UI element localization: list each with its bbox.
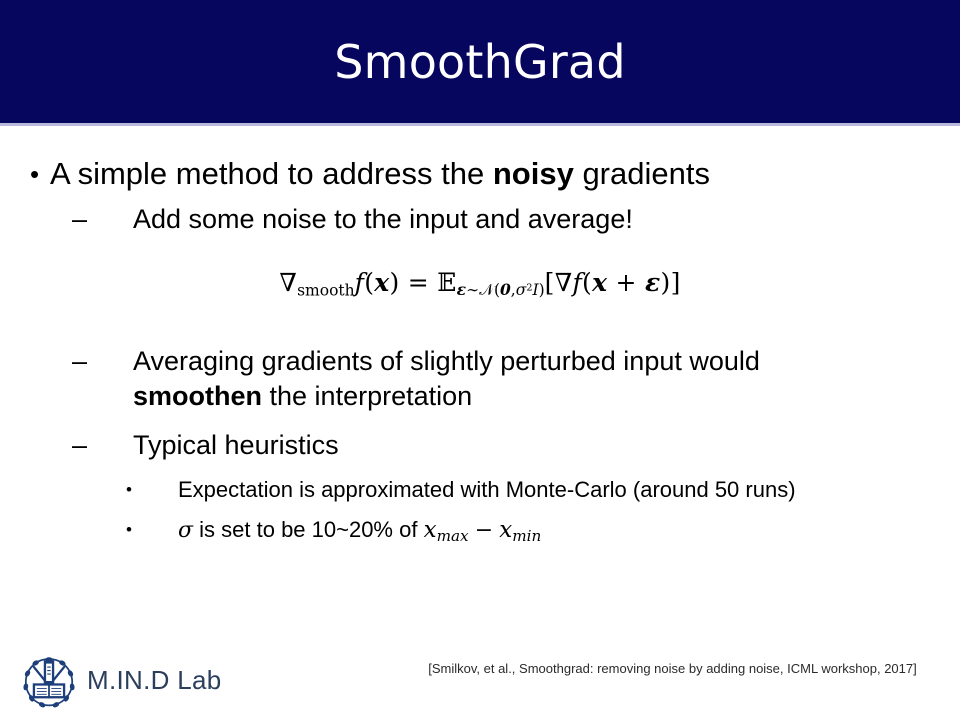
formula-x-bold: x xyxy=(374,268,389,297)
formula-tilde: ∼ xyxy=(466,281,479,299)
formula-paren2-close: ) xyxy=(661,268,671,297)
formula-expectation-symbol: 𝔼 xyxy=(437,268,456,297)
bullet-marker-dash: – xyxy=(0,344,133,379)
formula-epsilon2: ε xyxy=(645,268,661,297)
bullet6-xmax-base: x xyxy=(424,517,437,543)
bullet-marker-dash: – xyxy=(0,202,133,237)
bullet5-text: Expectation is approximated with Monte-C… xyxy=(178,471,960,509)
bullet4-text: Typical heuristics xyxy=(133,428,833,463)
bullet-marker-small-dot: • xyxy=(0,471,178,509)
formula-sigma: σ xyxy=(516,281,527,299)
formula-equals: = xyxy=(408,268,429,297)
formula-epsilon: ε xyxy=(457,280,466,299)
formula-paren-open: ( xyxy=(364,268,374,297)
bullet-level2-item-heuristics: – Typical heuristics xyxy=(0,428,960,463)
bullet-level1-text: A simple method to address the noisy gra… xyxy=(50,154,960,194)
formula-nabla-icon: ∇ xyxy=(279,268,297,297)
bullet3-line2-after: the interpretation xyxy=(262,381,472,411)
formula-smooth-subscript: smooth xyxy=(297,281,355,299)
bullet6-xmin-subscript: min xyxy=(512,527,541,545)
bullet2-text: Add some noise to the input and average! xyxy=(133,202,833,237)
bullet6-xmin: xmin xyxy=(499,517,541,543)
formula-zero-bold: 0 xyxy=(500,280,511,299)
formula-bracket-close: ] xyxy=(671,268,681,297)
bullet6-xmax-subscript: max xyxy=(437,527,469,545)
formula-plus: + xyxy=(616,268,637,297)
formula-paren2-open: ( xyxy=(582,268,592,297)
bullet-level3-item-expectation: • Expectation is approximated with Monte… xyxy=(0,471,960,509)
bullet6-text: σ is set to be 10~20% of xmax − xmin xyxy=(178,511,960,555)
formula-bracket-open: [ xyxy=(545,268,555,297)
slide-body: • A simple method to address the noisy g… xyxy=(0,126,960,626)
bullet-level2-item-averaging: – Averaging gradients of slightly pertur… xyxy=(0,344,960,414)
formula-normal-symbol: 𝒩 xyxy=(479,281,494,299)
bullet-marker-dash: – xyxy=(0,428,133,463)
snu-emblem-icon xyxy=(20,652,78,710)
formula-nabla2-icon: ∇ xyxy=(555,268,573,297)
bullet6-sigma: σ xyxy=(178,518,193,543)
bullet-level2-item-add-noise: – Add some noise to the input and averag… xyxy=(0,202,960,237)
citation-text: [Smilkov, et al., Smoothgrad: removing n… xyxy=(400,661,945,676)
bullet6-minus: − xyxy=(475,518,493,543)
bullet3-text: Averaging gradients of slightly perturbe… xyxy=(133,344,833,414)
bullet-marker-dot: • xyxy=(0,154,50,194)
bullet6-xmax: xmax xyxy=(424,517,469,543)
lab-logo-text: M.IN.D Lab xyxy=(87,667,222,695)
slide-title: SmoothGrad xyxy=(0,0,960,123)
formula-x2-bold: x xyxy=(592,268,607,297)
bullet-marker-small-dot: • xyxy=(0,511,178,549)
formula-expectation-subscript: ε∼𝒩(0,σ2I) xyxy=(457,281,545,299)
bullet6-text-mid: is set to be 10~20% of xyxy=(193,517,424,542)
formula-f: f xyxy=(355,268,365,297)
lab-logo: M.IN.D Lab xyxy=(20,652,222,710)
formula-f2: f xyxy=(572,268,582,297)
bullet6-xmin-base: x xyxy=(499,517,512,543)
smoothgrad-formula: ∇smoothf(x) = 𝔼ε∼𝒩(0,σ2I)[∇f(x + ε)] xyxy=(279,268,680,297)
bullet1-text-after: gradients xyxy=(574,156,710,191)
bullet-level3-item-sigma: • σ is set to be 10~20% of xmax − xmin xyxy=(0,511,960,555)
bullet3-bold-smoothen: smoothen xyxy=(133,381,262,411)
bullet1-bold-noisy: noisy xyxy=(493,156,574,191)
bullet1-text-before: A simple method to address the xyxy=(50,156,493,191)
formula-paren-close: ) xyxy=(389,268,399,297)
formula-row: ∇smoothf(x) = 𝔼ε∼𝒩(0,σ2I)[∇f(x + ε)] xyxy=(0,268,960,300)
bullet-level1-item: • A simple method to address the noisy g… xyxy=(0,154,960,194)
bullet3-line1: Averaging gradients of slightly perturbe… xyxy=(133,346,760,376)
